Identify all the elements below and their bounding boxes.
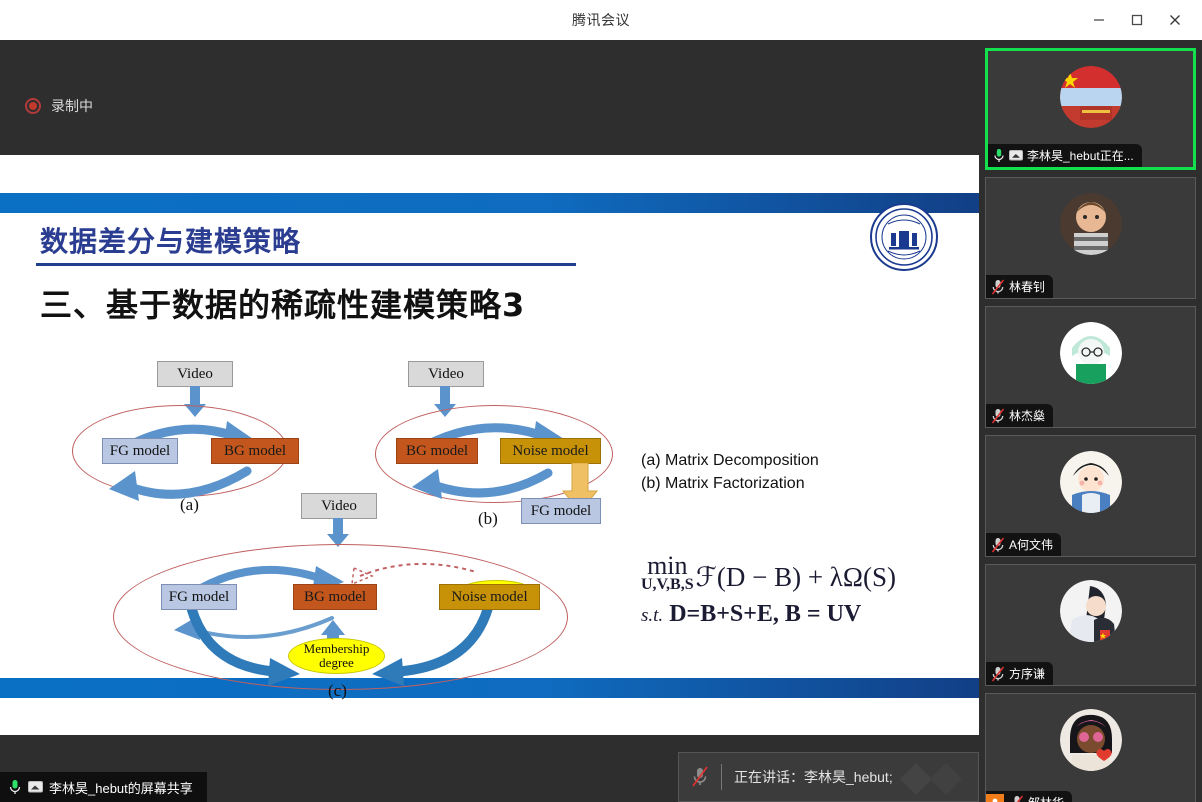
avatar — [1060, 66, 1122, 128]
participant-panel[interactable]: 李林昊_hebut正在... — [979, 40, 1202, 802]
figure-c-fg-box: FG model — [161, 584, 237, 610]
participant-name: 林杰燊 — [1009, 407, 1045, 424]
participant-namebar: 邹林华 — [986, 791, 1072, 802]
participant-tile[interactable]: 李林昊_hebut正在... — [985, 48, 1196, 170]
decorative-diamonds-icon — [882, 761, 972, 802]
speaking-text: 正在讲话：李林昊_hebut; — [734, 767, 893, 787]
minimize-button[interactable] — [1080, 0, 1118, 40]
mic-off-icon — [991, 537, 1005, 553]
window-controls — [1080, 0, 1202, 40]
screen-share-icon — [1009, 150, 1023, 162]
figure-c-bg-box: BG model — [293, 584, 377, 610]
speaking-indicator: 正在讲话：李林昊_hebut; — [678, 752, 979, 802]
screen-share-icon — [28, 781, 43, 794]
participant-namebar: 林杰燊 — [986, 404, 1053, 427]
formula-min-subscript: U,V,B,S — [641, 577, 694, 593]
slide-top-banner — [0, 193, 979, 213]
figure-c-membership-ellipse: Membership degree — [288, 638, 385, 674]
figure-a-caption: (a) — [180, 495, 199, 515]
formula-constraint: D=B+S+E, B = UV — [669, 601, 861, 627]
recording-badge: 录制中 — [25, 96, 93, 116]
participant-tile[interactable]: A何文伟 — [985, 435, 1196, 557]
presentation-slide: 数据差分与建模策略 三、基于数据的稀疏性建模策略3 Video FG model… — [0, 155, 979, 735]
title-bar: 腾讯会议 — [0, 0, 1202, 40]
participant-name: A何文伟 — [1009, 536, 1053, 553]
slide-title-rule — [36, 263, 576, 266]
mic-off-icon — [991, 408, 1005, 424]
participant-tile[interactable]: 林杰燊 — [985, 306, 1196, 428]
maximize-button[interactable] — [1118, 0, 1156, 40]
figure-b-video-box: Video — [408, 361, 484, 387]
shared-screen-area[interactable]: 录制中 数据差分与建模策略 三、基于数据的稀疏性建模策略3 — [0, 40, 979, 802]
avatar — [1060, 451, 1122, 513]
mic-on-icon — [8, 779, 22, 795]
mic-off-icon — [991, 279, 1005, 295]
legend-item-a: (a) Matrix Decomposition — [641, 449, 819, 472]
membership-line1: Membership — [304, 642, 370, 656]
participant-namebar: 方序谦 — [986, 662, 1053, 685]
close-button[interactable] — [1156, 0, 1194, 40]
figure-c-video-box: Video — [301, 493, 377, 519]
mic-off-icon — [1010, 795, 1024, 802]
university-seal-icon — [870, 203, 938, 271]
figure-b-caption: (b) — [478, 509, 498, 529]
figure-b-bg-box: BG model — [396, 438, 478, 464]
participant-namebar: A何文伟 — [986, 533, 1061, 556]
screen-share-label: 李林昊_hebut的屏幕共享 — [0, 772, 207, 802]
figure-a-video-box: Video — [157, 361, 233, 387]
figure-b-noise-box: Noise model — [500, 438, 601, 464]
host-badge-icon — [986, 794, 1004, 802]
participant-name: 邹林华 — [1028, 794, 1064, 802]
legend-item-b: (b) Matrix Factorization — [641, 472, 819, 495]
avatar — [1060, 322, 1122, 384]
optimization-formula: min U,V,B,S ℱ(D − B) + λΩ(S) s.t. D=B+S+… — [641, 553, 896, 628]
participant-name: 李林昊_hebut正在... — [1027, 147, 1134, 164]
slide-title: 数据差分与建模策略 — [40, 220, 301, 260]
figure-b-fg-output-box: FG model — [521, 498, 601, 524]
formula-objective: ℱ(D − B) + λΩ(S) — [696, 562, 896, 593]
participant-tile[interactable]: 方序谦 — [985, 564, 1196, 686]
figure-a-bg-box: BG model — [211, 438, 299, 464]
tencent-meeting-window: 腾讯会议 录制中 — [0, 0, 1202, 802]
record-icon — [25, 98, 41, 114]
figure-c-noise-box: Noise model — [439, 584, 540, 610]
figure-a-fg-box: FG model — [102, 438, 178, 464]
avatar — [1060, 580, 1122, 642]
recording-label: 录制中 — [51, 96, 93, 116]
window-title: 腾讯会议 — [572, 10, 630, 30]
membership-line2: degree — [319, 656, 354, 670]
slide-subtitle: 三、基于数据的稀疏性建模策略3 — [40, 280, 525, 326]
formula-constraint-prefix: s.t. — [641, 605, 663, 626]
mic-off-icon — [991, 666, 1005, 682]
participant-namebar: 李林昊_hebut正在... — [988, 144, 1142, 167]
participant-namebar: 林春钊 — [986, 275, 1053, 298]
speaking-divider — [721, 764, 722, 790]
participant-tile[interactable]: 邹林华 — [985, 693, 1196, 802]
mic-on-icon — [993, 148, 1005, 163]
screen-share-label-text: 李林昊_hebut的屏幕共享 — [49, 778, 193, 797]
avatar — [1060, 193, 1122, 255]
participant-name: 方序谦 — [1009, 665, 1045, 682]
avatar — [1060, 709, 1122, 771]
mic-off-icon — [691, 766, 709, 788]
figure-legend: (a) Matrix Decomposition (b) Matrix Fact… — [641, 449, 819, 495]
figure-c-caption: (c) — [328, 681, 347, 701]
participant-tile[interactable]: 林春钊 — [985, 177, 1196, 299]
participant-name: 林春钊 — [1009, 278, 1045, 295]
